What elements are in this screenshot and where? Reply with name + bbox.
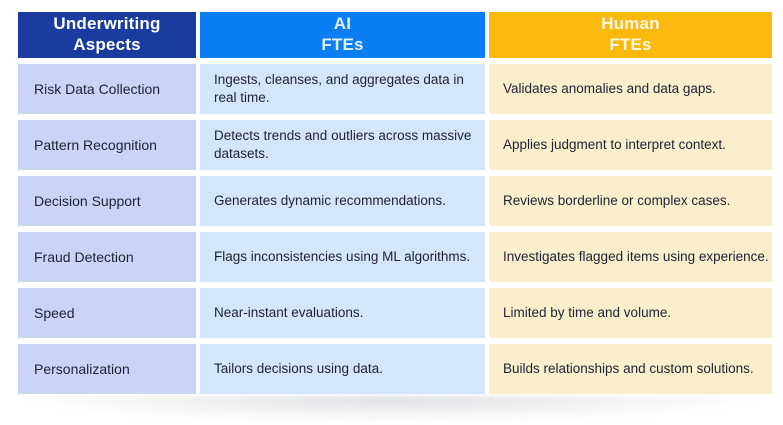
column-header-human-ftes: Human FTEs — [489, 12, 772, 58]
column-header-ai-ftes-line2: FTEs — [200, 35, 485, 56]
cell-ai-text: Tailors decisions using data. — [214, 360, 485, 378]
cell-human-text: Builds relationships and custom solution… — [503, 360, 772, 378]
cell-ai: Tailors decisions using data. — [200, 344, 485, 394]
column-header-underwriting-aspects: Underwriting Aspects — [18, 12, 196, 58]
cell-ai: Ingests, cleanses, and aggregates data i… — [200, 64, 485, 114]
table-row: Personalization Tailors decisions using … — [18, 344, 772, 394]
cell-ai: Flags inconsistencies using ML algorithm… — [200, 232, 485, 282]
underwriting-comparison-table: Underwriting Aspects AI FTEs Human FTEs … — [14, 6, 776, 400]
column-header-ai-ftes: AI FTEs — [200, 12, 485, 58]
cell-aspect-text: Decision Support — [34, 192, 196, 211]
cell-ai-text: Detects trends and outliers across massi… — [214, 127, 485, 163]
cell-human: Limited by time and volume. — [489, 288, 772, 338]
cell-ai-text: Ingests, cleanses, and aggregates data i… — [214, 71, 485, 107]
comparison-table-container: Underwriting Aspects AI FTEs Human FTEs … — [0, 0, 783, 425]
table-header: Underwriting Aspects AI FTEs Human FTEs — [18, 12, 772, 58]
table-row: Speed Near-instant evaluations. Limited … — [18, 288, 772, 338]
table-row: Pattern Recognition Detects trends and o… — [18, 120, 772, 170]
cell-human-text: Limited by time and volume. — [503, 304, 772, 322]
column-header-underwriting-aspects-line1: Underwriting — [18, 14, 196, 35]
cell-ai: Generates dynamic recommendations. — [200, 176, 485, 226]
cell-human: Reviews borderline or complex cases. — [489, 176, 772, 226]
column-header-human-ftes-line1: Human — [489, 14, 772, 35]
cell-human: Applies judgment to interpret context. — [489, 120, 772, 170]
cell-aspect: Pattern Recognition — [18, 120, 196, 170]
column-header-underwriting-aspects-line2: Aspects — [18, 35, 196, 56]
cell-aspect-text: Personalization — [34, 360, 196, 379]
cell-human-text: Reviews borderline or complex cases. — [503, 192, 772, 210]
cell-human-text: Applies judgment to interpret context. — [503, 136, 772, 154]
cell-human: Validates anomalies and data gaps. — [489, 64, 772, 114]
cell-ai-text: Flags inconsistencies using ML algorithm… — [214, 248, 485, 266]
cell-aspect-text: Speed — [34, 304, 196, 323]
cell-aspect-text: Risk Data Collection — [34, 80, 196, 99]
table-header-row: Underwriting Aspects AI FTEs Human FTEs — [18, 12, 772, 58]
table-row: Risk Data Collection Ingests, cleanses, … — [18, 64, 772, 114]
cell-aspect: Fraud Detection — [18, 232, 196, 282]
cell-ai-text: Generates dynamic recommendations. — [214, 192, 485, 210]
cell-human: Builds relationships and custom solution… — [489, 344, 772, 394]
cell-aspect: Personalization — [18, 344, 196, 394]
cell-human-text: Validates anomalies and data gaps. — [503, 80, 772, 98]
table-row: Decision Support Generates dynamic recom… — [18, 176, 772, 226]
cell-human-text: Investigates flagged items using experie… — [503, 248, 772, 266]
column-header-human-ftes-line2: FTEs — [489, 35, 772, 56]
cell-aspect-text: Fraud Detection — [34, 248, 196, 267]
table-body: Risk Data Collection Ingests, cleanses, … — [18, 64, 772, 394]
cell-aspect: Decision Support — [18, 176, 196, 226]
cell-ai: Near-instant evaluations. — [200, 288, 485, 338]
column-header-ai-ftes-line1: AI — [200, 14, 485, 35]
cell-ai: Detects trends and outliers across massi… — [200, 120, 485, 170]
cell-ai-text: Near-instant evaluations. — [214, 304, 485, 322]
cell-human: Investigates flagged items using experie… — [489, 232, 772, 282]
cell-aspect: Speed — [18, 288, 196, 338]
cell-aspect-text: Pattern Recognition — [34, 136, 196, 155]
cell-aspect: Risk Data Collection — [18, 64, 196, 114]
table-row: Fraud Detection Flags inconsistencies us… — [18, 232, 772, 282]
